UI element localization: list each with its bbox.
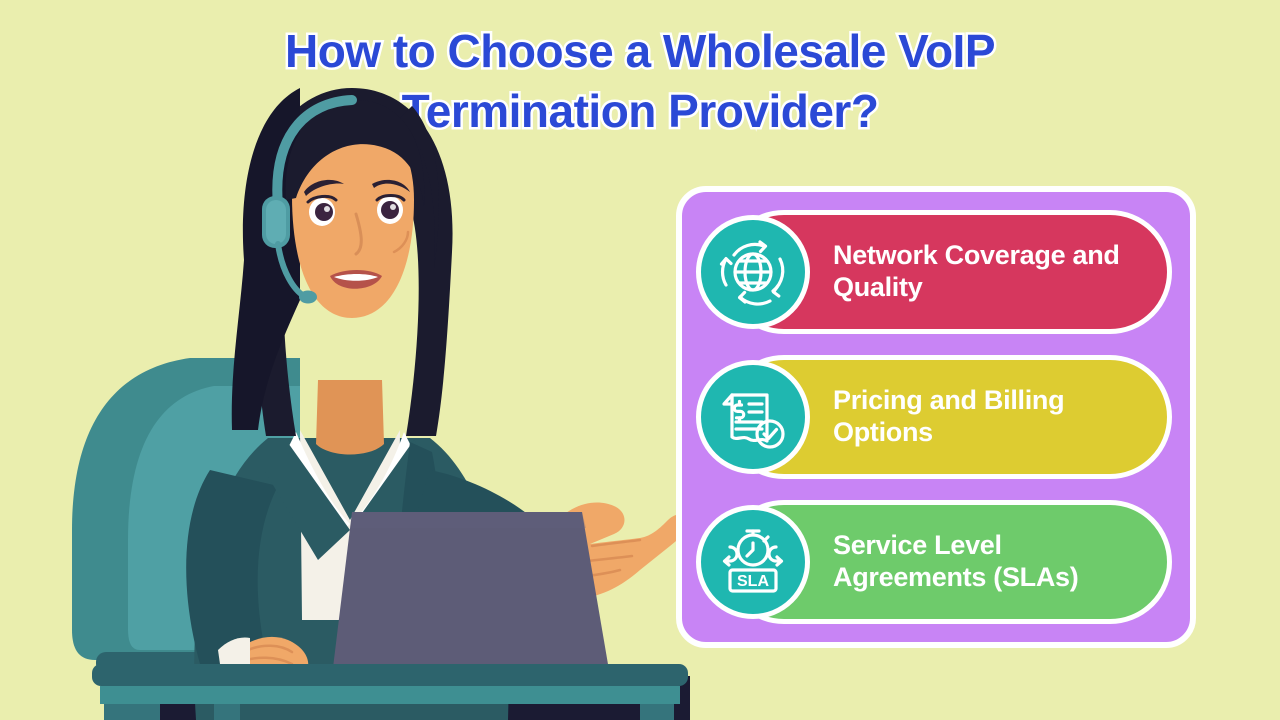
- feature-card-label: Service Level Agreements (SLAs): [833, 530, 1151, 594]
- headset-mic: [299, 291, 317, 304]
- feature-card-label: Pricing and Billing Options: [833, 385, 1151, 449]
- agent-illustration: [0, 0, 700, 720]
- globe-network-icon: [696, 215, 810, 329]
- invoice-dollar-check-icon: [696, 360, 810, 474]
- feature-card-pricing-billing[interactable]: Pricing and Billing Options: [722, 355, 1172, 479]
- feature-card-label: Network Coverage and Quality: [833, 240, 1151, 304]
- sla-stopwatch-icon: SLA: [696, 505, 810, 619]
- infographic-canvas: How to Choose a Wholesale VoIP Terminati…: [0, 0, 1280, 720]
- laptop: [332, 512, 610, 676]
- features-panel: Network Coverage and Quality: [676, 186, 1196, 648]
- neck: [316, 380, 384, 455]
- feature-card-network-coverage[interactable]: Network Coverage and Quality: [722, 210, 1172, 334]
- sla-icon-text: SLA: [737, 573, 769, 590]
- feature-card-sla[interactable]: SLA Service Level Agreements (SLAs): [722, 500, 1172, 624]
